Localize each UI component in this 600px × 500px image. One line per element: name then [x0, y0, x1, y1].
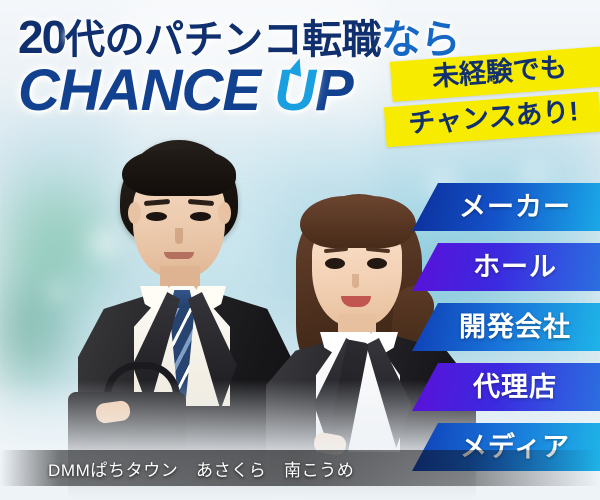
headline-chance-word: CHANCE: [18, 58, 260, 123]
promo-badges: 未経験でも チャンスあり!: [391, 54, 600, 144]
category-item-agency[interactable]: 代理店: [412, 363, 600, 411]
category-label-agency: 代理店: [473, 374, 557, 401]
category-label-hall: ホール: [473, 254, 557, 281]
category-item-developer[interactable]: 開発会社: [412, 303, 600, 351]
headline-number: 20: [18, 11, 65, 63]
caption-strip: DMMぱちタウン あさくら 南こうめ: [0, 450, 600, 486]
promo-banner: 20代のパチンコ転職なら CHANCEUP 未経験でも チャンスあり! メーカー…: [0, 0, 600, 500]
category-label-maker: メーカー: [459, 194, 571, 221]
headline-up-u-arrow: U: [274, 62, 315, 120]
headline-up-p-letter: P: [315, 58, 353, 123]
category-item-maker[interactable]: メーカー: [412, 183, 600, 231]
category-item-hall[interactable]: ホール: [412, 243, 600, 291]
headline-line-1-mid: 代のパチンコ転職: [65, 18, 381, 62]
category-label-developer: 開発会社: [459, 314, 571, 341]
category-list: メーカー ホール 開発会社 代理店 メディア: [412, 183, 600, 483]
caption-text: DMMぱちタウン あさくら 南こうめ: [48, 456, 354, 481]
